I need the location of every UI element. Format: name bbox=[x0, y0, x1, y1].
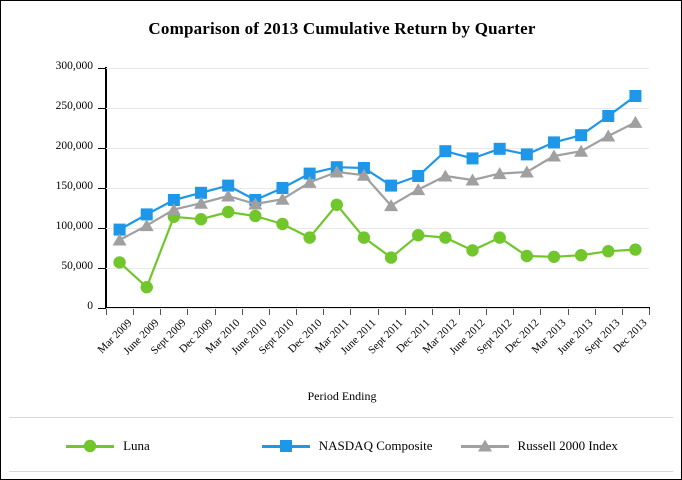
data-point[interactable] bbox=[411, 183, 425, 195]
legend-label: NASDAQ Composite bbox=[319, 438, 433, 454]
series-nasdaq-composite bbox=[114, 90, 642, 236]
legend-swatch bbox=[461, 437, 509, 455]
data-point[interactable] bbox=[521, 250, 533, 262]
data-point[interactable] bbox=[574, 145, 588, 157]
data-point[interactable] bbox=[276, 218, 288, 230]
data-point[interactable] bbox=[548, 136, 560, 148]
legend-marker-triangle-icon bbox=[477, 439, 493, 453]
series-line bbox=[120, 96, 636, 230]
x-tick bbox=[595, 309, 596, 315]
y-tick bbox=[98, 68, 106, 69]
data-point[interactable] bbox=[385, 180, 397, 192]
y-tick bbox=[98, 228, 106, 229]
x-tick bbox=[242, 309, 243, 315]
plot-area bbox=[106, 68, 649, 308]
x-tick bbox=[486, 309, 487, 315]
x-axis-label: Period Ending bbox=[1, 389, 682, 404]
y-tick-label: 200,000 bbox=[31, 140, 93, 152]
y-tick-label: 300,000 bbox=[31, 60, 93, 72]
x-tick bbox=[432, 309, 433, 315]
x-tick bbox=[459, 309, 460, 315]
x-tick bbox=[622, 309, 623, 315]
data-point[interactable] bbox=[493, 231, 505, 243]
y-tick-label: 150,000 bbox=[31, 180, 93, 192]
data-point[interactable] bbox=[548, 251, 560, 263]
data-point[interactable] bbox=[140, 219, 154, 231]
x-tick bbox=[323, 309, 324, 315]
x-tick bbox=[513, 309, 514, 315]
legend-item-luna[interactable]: Luna bbox=[66, 437, 150, 455]
y-tick-label: 50,000 bbox=[31, 260, 93, 272]
data-point[interactable] bbox=[195, 213, 207, 225]
gridline bbox=[106, 308, 649, 309]
x-tick bbox=[405, 309, 406, 315]
y-tick bbox=[98, 268, 106, 269]
legend-top-divider bbox=[9, 417, 673, 418]
y-tick bbox=[98, 148, 106, 149]
legend-swatch bbox=[66, 437, 114, 455]
data-point[interactable] bbox=[113, 256, 125, 268]
data-point[interactable] bbox=[222, 206, 234, 218]
x-tick bbox=[187, 309, 188, 315]
y-tick-label: 0 bbox=[31, 300, 93, 312]
y-tick bbox=[98, 108, 106, 109]
data-point[interactable] bbox=[521, 148, 533, 160]
legend-marker-square-icon bbox=[278, 439, 294, 453]
x-tick bbox=[350, 309, 351, 315]
legend-item-russell-2000-index[interactable]: Russell 2000 Index bbox=[461, 437, 618, 455]
legend-swatch bbox=[262, 437, 310, 455]
data-point[interactable] bbox=[466, 244, 478, 256]
x-tick bbox=[160, 309, 161, 315]
data-point[interactable] bbox=[331, 199, 343, 211]
y-tick-label: 100,000 bbox=[31, 220, 93, 232]
data-point[interactable] bbox=[602, 245, 614, 257]
series-luna bbox=[113, 199, 641, 294]
data-point[interactable] bbox=[601, 130, 615, 142]
data-point[interactable] bbox=[628, 116, 642, 128]
x-tick bbox=[568, 309, 569, 315]
x-tick bbox=[378, 309, 379, 315]
chart-title: Comparison of 2013 Cumulative Return by … bbox=[1, 19, 682, 39]
data-point[interactable] bbox=[439, 145, 451, 157]
data-point[interactable] bbox=[412, 170, 424, 182]
data-point[interactable] bbox=[276, 182, 288, 194]
x-tick bbox=[649, 309, 650, 315]
legend-marker-circle-icon bbox=[82, 439, 98, 453]
legend-item-nasdaq-composite[interactable]: NASDAQ Composite bbox=[262, 437, 433, 455]
data-point[interactable] bbox=[141, 281, 153, 293]
series-russell-2000-index bbox=[113, 116, 643, 246]
x-tick bbox=[215, 309, 216, 315]
data-point[interactable] bbox=[439, 231, 451, 243]
data-point[interactable] bbox=[303, 231, 315, 243]
data-point[interactable] bbox=[412, 229, 424, 241]
y-tick bbox=[98, 308, 106, 309]
x-tick bbox=[106, 309, 107, 315]
data-point[interactable] bbox=[629, 90, 641, 102]
y-tick bbox=[98, 188, 106, 189]
chart-legend: LunaNASDAQ CompositeRussell 2000 Index bbox=[1, 427, 682, 465]
legend-bottom-divider bbox=[9, 471, 673, 472]
data-point[interactable] bbox=[602, 110, 614, 122]
data-point[interactable] bbox=[494, 143, 506, 155]
data-point[interactable] bbox=[575, 249, 587, 261]
data-point[interactable] bbox=[575, 129, 587, 141]
x-tick bbox=[133, 309, 134, 315]
data-point[interactable] bbox=[629, 243, 641, 255]
data-point[interactable] bbox=[358, 231, 370, 243]
x-tick bbox=[269, 309, 270, 315]
chart-page: Comparison of 2013 Cumulative Return by … bbox=[0, 0, 682, 480]
data-point[interactable] bbox=[275, 193, 289, 205]
data-point[interactable] bbox=[438, 170, 452, 182]
data-point[interactable] bbox=[141, 208, 153, 220]
data-point[interactable] bbox=[249, 210, 261, 222]
x-tick bbox=[296, 309, 297, 315]
data-point[interactable] bbox=[385, 251, 397, 263]
x-tick bbox=[540, 309, 541, 315]
legend-label: Russell 2000 Index bbox=[518, 438, 618, 454]
legend-label: Luna bbox=[123, 438, 150, 454]
data-point[interactable] bbox=[467, 152, 479, 164]
series-layer bbox=[106, 68, 649, 308]
y-tick-label: 250,000 bbox=[31, 100, 93, 112]
